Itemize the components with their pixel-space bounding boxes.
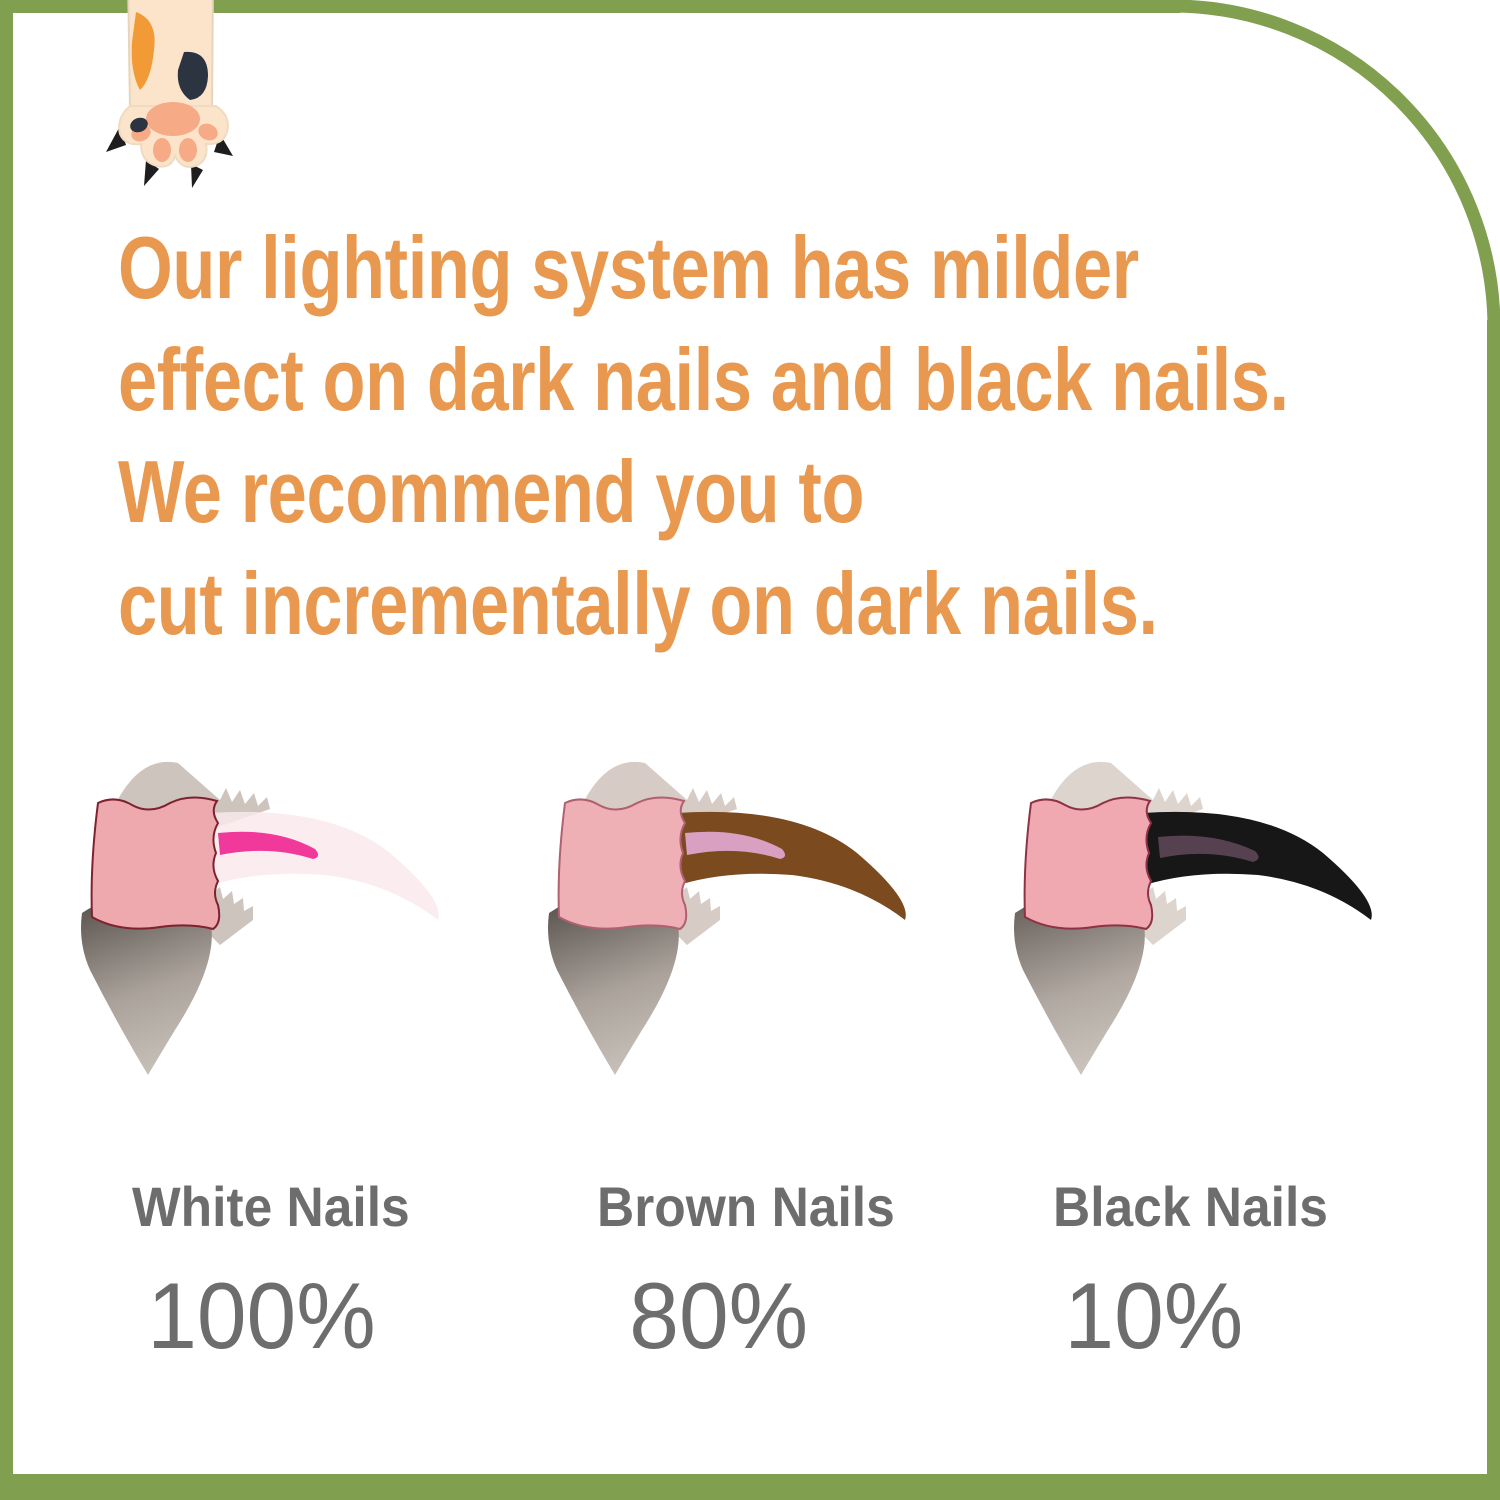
white-nail-diagram — [60, 745, 480, 1085]
paw-bean-3 — [179, 138, 197, 162]
frame-left-bar — [0, 0, 13, 1500]
white-claw — [210, 812, 439, 920]
nail-illustrations-row — [60, 745, 1460, 1105]
caption-value-black: 10% — [1053, 1261, 1440, 1371]
black-claw — [1143, 812, 1372, 920]
frame-right-bar — [1487, 320, 1500, 1500]
headline-block: Our lighting system has milder effect on… — [118, 212, 1398, 660]
paw-claw-3 — [191, 164, 203, 188]
caption-label-brown: Brown Nails — [597, 1175, 972, 1239]
headline-line-1: Our lighting system has milder — [118, 212, 1142, 324]
caption-value-white: 100% — [132, 1261, 519, 1371]
cat-paw-illustration — [96, 0, 246, 194]
caption-white-nails: White Nails 100% — [60, 1175, 539, 1371]
headline-line-4: cut incrementally on dark nails. — [118, 548, 1142, 660]
headline-line-2: effect on dark nails and black nails. — [118, 324, 1142, 436]
caption-value-brown: 80% — [597, 1261, 984, 1371]
brown-claw — [677, 812, 906, 920]
white-toe-pad — [92, 797, 220, 929]
paw-bean-2 — [153, 138, 171, 162]
nail-cell-white — [60, 745, 527, 1105]
brown-nail-diagram — [527, 745, 947, 1085]
frame-bottom-bar — [0, 1474, 1500, 1500]
caption-black-nails: Black Nails 10% — [1005, 1175, 1460, 1371]
infographic-root: Our lighting system has milder effect on… — [0, 0, 1500, 1500]
caption-label-black: Black Nails — [1053, 1175, 1428, 1239]
nail-cell-brown — [527, 745, 994, 1105]
nail-captions-row: White Nails 100% Brown Nails 80% Black N… — [60, 1175, 1460, 1371]
nail-cell-black — [993, 745, 1460, 1105]
headline-line-3: We recommend you to — [118, 436, 1142, 548]
black-toe-pad — [1025, 797, 1153, 929]
paw-icon — [96, 0, 246, 194]
paw-main-pad — [146, 102, 200, 136]
caption-brown-nails: Brown Nails 80% — [539, 1175, 1004, 1371]
black-nail-diagram — [993, 745, 1413, 1085]
caption-label-white: White Nails — [132, 1175, 507, 1239]
brown-toe-pad — [558, 797, 686, 929]
